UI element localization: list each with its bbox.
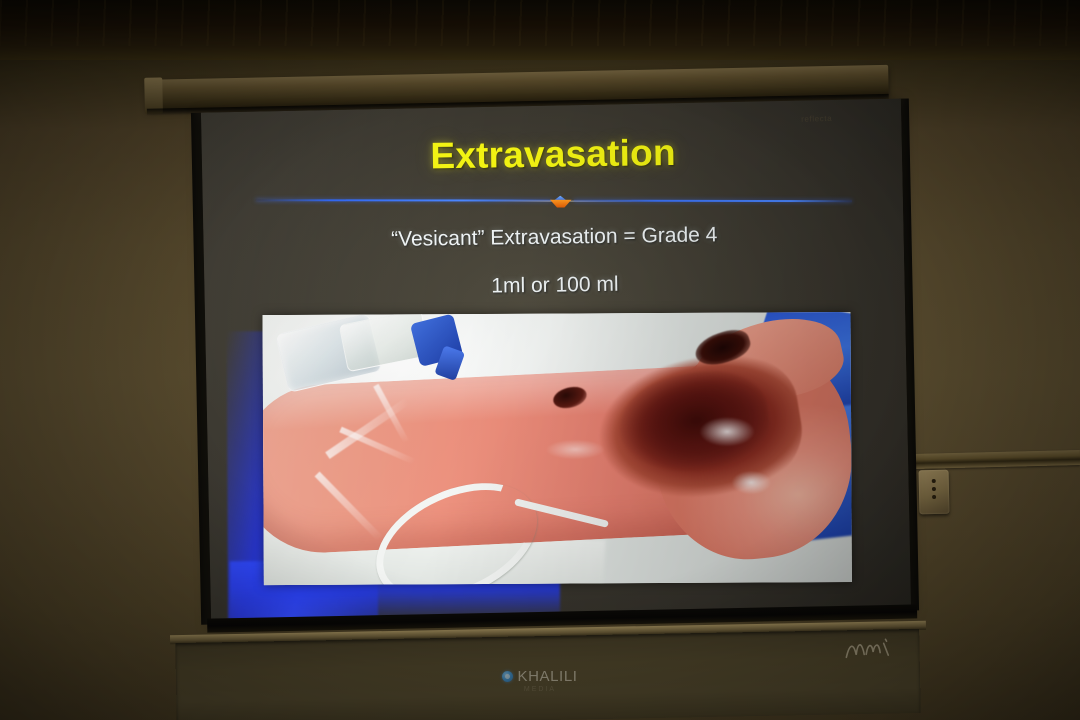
- slide-title: Extravasation: [203, 129, 904, 181]
- cable-trunking-strip: [912, 450, 1080, 469]
- whiteboard-handwriting: [841, 634, 902, 665]
- watermark: KHALILI MEDIA: [0, 668, 1080, 693]
- watermark-sub: MEDIA: [0, 686, 1080, 693]
- slide-body-line-2: 1ml or 100 ml: [205, 269, 905, 303]
- divider-bar-right: [574, 200, 852, 202]
- screen-brand-label: reflecta: [801, 114, 832, 124]
- ceiling: [0, 0, 1080, 60]
- projection-screen-assembly: Extravasation “Vesicant” Extravasation =…: [144, 64, 927, 659]
- diamond-bottom: [546, 200, 576, 208]
- lecture-room-background: Extravasation “Vesicant” Extravasation =…: [0, 0, 1080, 720]
- divider-diamond-accent-icon: [546, 196, 576, 207]
- ceiling-texture: [0, 0, 1080, 46]
- slide-content: Extravasation “Vesicant” Extravasation =…: [202, 101, 909, 621]
- slide-divider: [256, 191, 852, 210]
- clinical-photo-container: [263, 312, 852, 585]
- projected-slide: Extravasation “Vesicant” Extravasation =…: [201, 99, 911, 623]
- slide-body-line-1: “Vesicant” Extravasation = Grade 4: [204, 221, 904, 255]
- clinical-photo: [263, 312, 852, 585]
- skin-highlight: [731, 470, 771, 494]
- watermark-brand: KHALILI: [517, 668, 577, 685]
- outlet-screws-icon: [932, 479, 936, 483]
- skin-highlight: [699, 417, 755, 447]
- watermark-dot-icon: [502, 671, 513, 682]
- projection-screen-fabric: Extravasation “Vesicant” Extravasation =…: [201, 99, 911, 623]
